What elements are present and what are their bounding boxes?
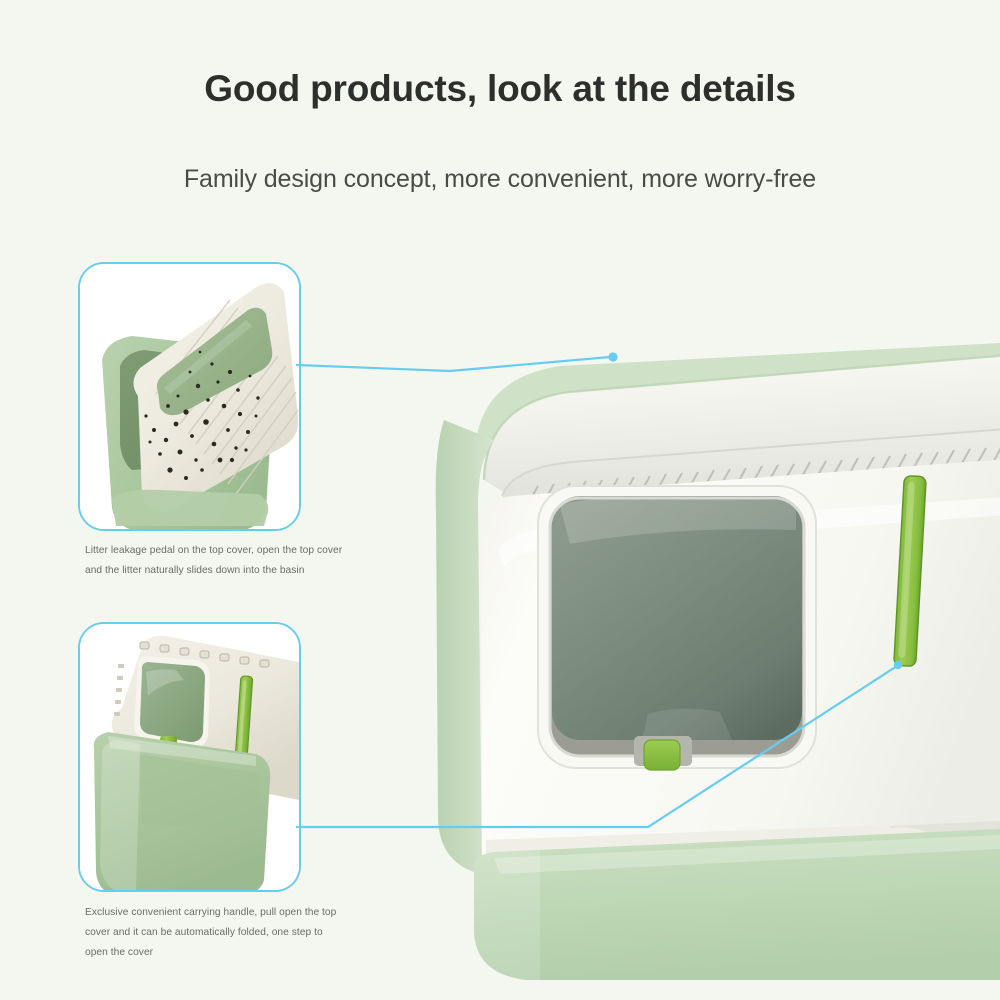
door-latch[interactable] <box>634 736 692 770</box>
basin-left-highlight <box>474 850 540 980</box>
feature-photo-carrying-handle <box>80 624 299 890</box>
page-title: Good products, look at the details <box>0 68 1000 110</box>
product-illustration <box>420 300 1000 980</box>
door-lower-sheen <box>642 708 732 740</box>
feature-caption-litter-leakage-pedal: Litter leakage pedal on the top cover, o… <box>85 541 343 581</box>
infographic-stage: Good products, look at the details Famil… <box>0 0 1000 1000</box>
feature-card-carrying-handle[interactable] <box>78 622 301 892</box>
feature-caption-carrying-handle: Exclusive convenient carrying handle, pu… <box>85 903 343 963</box>
inset1-basin-lip <box>112 490 268 526</box>
page-subtitle: Family design concept, more convenient, … <box>0 165 1000 194</box>
inset2-basin-left-highlight <box>100 740 140 890</box>
feature-card-litter-leakage-pedal[interactable] <box>78 262 301 531</box>
feature-photo-litter-leakage-pedal <box>80 264 299 529</box>
